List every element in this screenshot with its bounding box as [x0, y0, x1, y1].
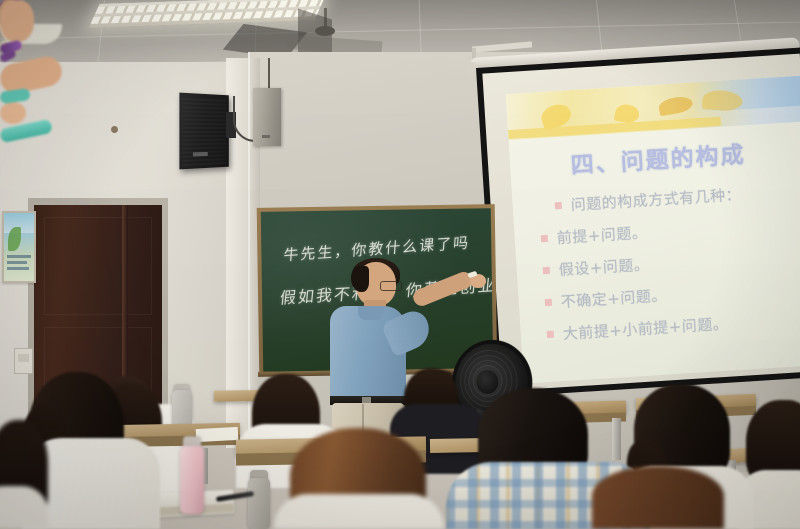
instructor-hair-side: [351, 266, 369, 292]
poster-leaf-graphic: [8, 227, 21, 251]
door-knob[interactable]: [111, 126, 118, 133]
poster-text-line: [7, 261, 27, 264]
wall-poster: [2, 211, 36, 283]
bullet-square-icon: [545, 299, 552, 306]
electrical-box: [253, 88, 281, 146]
teal-pencil-case[interactable]: [0, 88, 31, 104]
ceiling-wire: [268, 58, 270, 92]
wall-speaker: [179, 93, 228, 170]
slide-bullet-list: 问题的构成方式有几种： 前提+问题。 假设+问题。 不确定+问题。: [538, 181, 798, 356]
slide-bullet-item: 不确定+问题。: [544, 276, 795, 313]
speaker-logo: [193, 152, 208, 157]
presentation-slide: 四、问题的构成 问题的构成方式有几种： 前提+问题。 假设+问题。: [506, 76, 800, 384]
slide-bullet-item: 前提+问题。: [540, 213, 791, 250]
slide-banner-graphic: [506, 76, 800, 140]
bullet-square-icon: [547, 331, 554, 338]
glasses-icon: [380, 281, 402, 291]
slide-bullet-item: 问题的构成方式有几种：: [554, 181, 789, 217]
light-switch[interactable]: [14, 348, 33, 374]
student-face: [0, 0, 34, 42]
poster-text-line: [7, 267, 29, 270]
student-hand: [0, 102, 26, 124]
slide-bullet-text: 问题的构成方式有几种：: [570, 184, 741, 216]
slide-banner-petal: [658, 95, 694, 116]
slide-bullet-text: 大前提+小前提+问题。: [562, 313, 729, 344]
slide-title: 四、问题的构成: [509, 131, 800, 184]
desk-leg: [612, 418, 621, 460]
slide-bullet-item: 大前提+小前提+问题。: [546, 308, 797, 345]
student-bottom-right-hair: [592, 466, 724, 529]
instructor-collar: [358, 306, 384, 320]
steel-thermos[interactable]: [248, 478, 270, 529]
slide-bullet-text: 前提+问题。: [556, 222, 648, 249]
loose-paper: [196, 427, 239, 442]
slide-bullet-text: 不确定+问题。: [560, 284, 667, 312]
pink-thermos[interactable]: [180, 446, 204, 514]
projector-screen[interactable]: 四、问题的构成 问题的构成方式有几种： 前提+问题。 假设+问题。: [476, 47, 800, 397]
projector-screen-surface: 四、问题的构成 问题的构成方式有几种： 前提+问题。 假设+问题。: [482, 54, 800, 391]
door-panel: [44, 217, 152, 315]
ceiling-fan-hub: [315, 26, 335, 36]
slide-bullet-item: 假设+问题。: [542, 245, 793, 282]
student-front-left-ponytail: [0, 0, 62, 138]
poster-text-line: [7, 255, 31, 258]
fan-hub: [475, 369, 499, 396]
classroom-scene: 四、问题的构成 问题的构成方式有几种： 前提+问题。 假设+问题。: [0, 0, 800, 529]
bullet-square-icon: [541, 235, 548, 242]
student-shirt: [274, 494, 444, 529]
bullet-square-icon: [543, 267, 550, 274]
slide-bullet-text: 假设+问题。: [558, 254, 650, 281]
bullet-square-icon: [555, 202, 562, 209]
